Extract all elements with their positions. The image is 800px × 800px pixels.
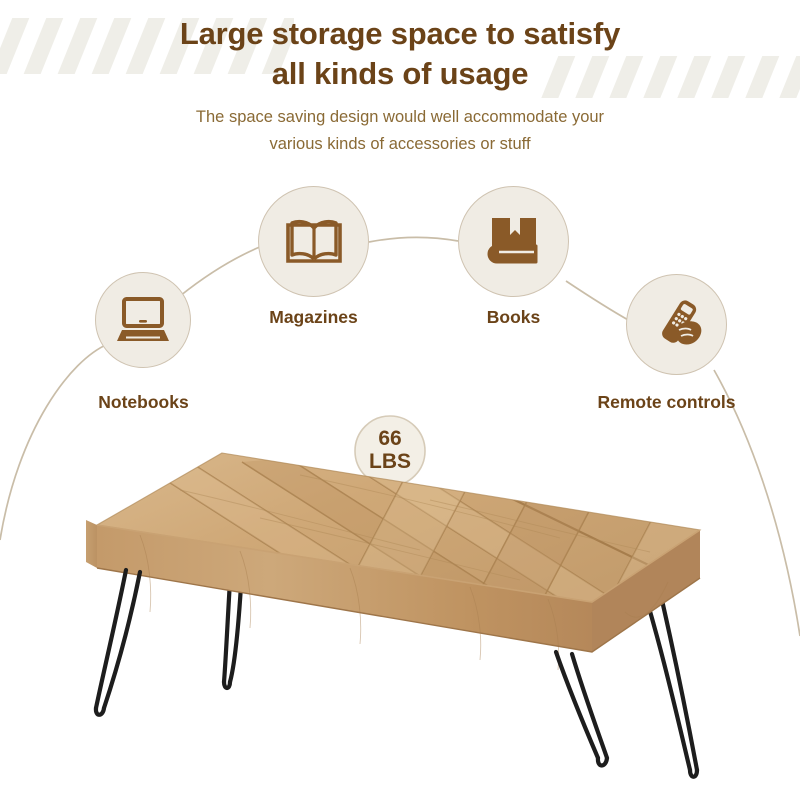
open-book-icon [284, 217, 344, 267]
arc-notebooks-magazines [180, 246, 262, 296]
feature-circle [258, 186, 369, 297]
infographic-canvas: Large storage space to satisfy all kinds… [0, 0, 800, 800]
feature-label: Books [370, 307, 657, 328]
leg-rear-left-foot [224, 682, 230, 688]
remote-control-in-hand-icon [648, 297, 706, 353]
closed-book-icon [486, 215, 542, 269]
feature-label: Notebooks [0, 392, 287, 413]
leg-front-right-foot [598, 758, 607, 766]
leg-front-left-foot [96, 708, 104, 715]
feature-label: Remote controls [523, 392, 800, 413]
feature-circle [626, 274, 727, 375]
arc-magazines-books [369, 237, 458, 242]
feature-circle [458, 186, 569, 297]
laptop-icon [116, 296, 170, 344]
leg-rear-right-foot [690, 770, 697, 777]
coffee-table-image [0, 430, 800, 800]
